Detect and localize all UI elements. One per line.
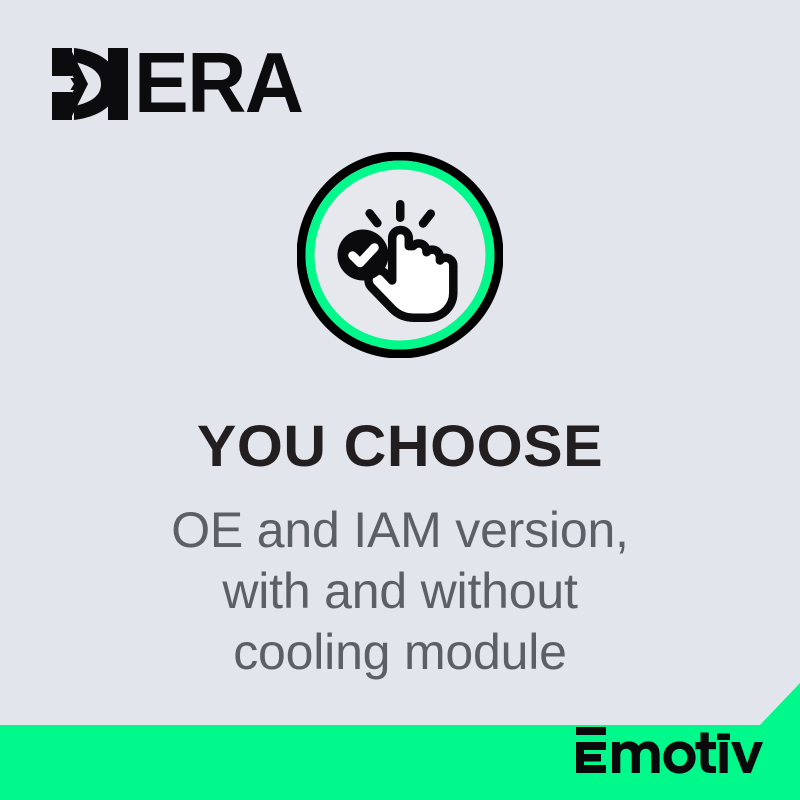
page-subtitle: OE and IAM version, with and without coo… [0, 500, 800, 683]
era-wordmark: ERA [134, 44, 302, 125]
subtitle-line-2: with and without [0, 561, 800, 622]
era-logo: ERA [52, 48, 290, 120]
subtitle-line-3: cooling module [0, 622, 800, 683]
click-ray-center [396, 200, 405, 222]
page-title: YOU CHOOSE [0, 413, 800, 480]
poster-canvas: ERA YOU CHOOSE OE and IAM version, [0, 0, 800, 800]
subtitle-line-1: OE and IAM version, [0, 500, 800, 561]
footer-shape [0, 683, 800, 800]
era-logo-mark [52, 48, 130, 120]
choose-click-hand-icon [297, 152, 503, 358]
emotive-logo [574, 726, 764, 774]
